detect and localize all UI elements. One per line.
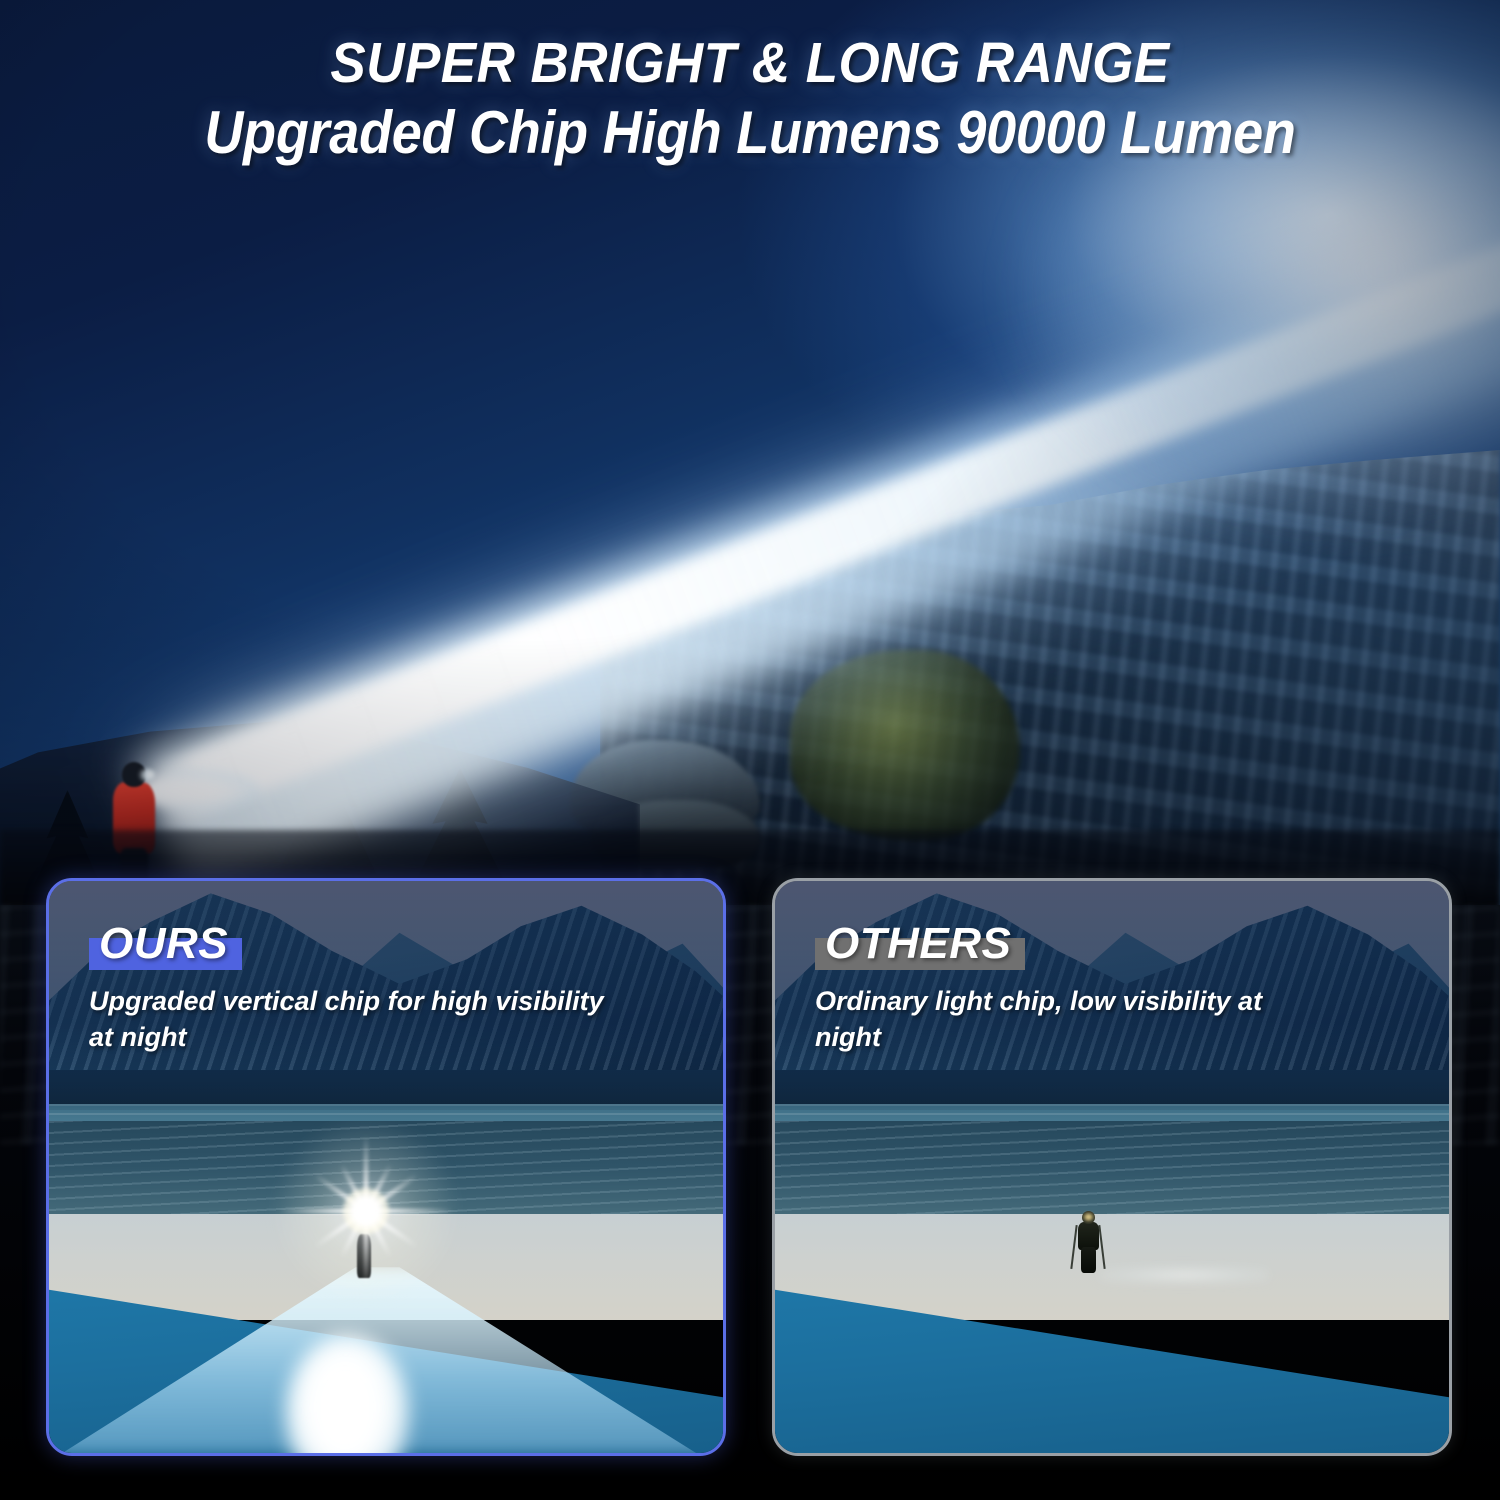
- snowfield-horizon-texture: [775, 1121, 1449, 1221]
- badge-label: OURS: [99, 919, 228, 968]
- starburst-light-icon: [306, 1151, 426, 1271]
- status-badge: OTHERS: [815, 917, 1025, 972]
- comparison-section: OURS Upgraded vertical chip for high vis…: [0, 0, 1500, 1500]
- status-badge: OURS: [89, 917, 242, 972]
- others-snowfield-scene: [775, 1121, 1449, 1453]
- ski-pole: [1099, 1225, 1106, 1269]
- skier-figure: [1071, 1211, 1105, 1273]
- ours-snowfield-scene: [49, 1121, 723, 1453]
- skier-body: [1078, 1222, 1099, 1250]
- dim-light-pool: [1099, 1267, 1269, 1283]
- starburst-core: [343, 1188, 389, 1234]
- others-badge-wrap: OTHERS: [815, 917, 1025, 972]
- headlamp-icon: [1083, 1213, 1094, 1221]
- comparison-card-ours[interactable]: OURS Upgraded vertical chip for high vis…: [46, 878, 726, 1456]
- comparison-card-others[interactable]: OTHERS Ordinary light chip, low visibili…: [772, 878, 1452, 1456]
- badge-label: OTHERS: [825, 919, 1011, 968]
- ours-badge-wrap: OURS: [89, 917, 242, 972]
- skier-legs: [1081, 1247, 1096, 1273]
- ski-pole: [1071, 1225, 1078, 1269]
- others-description: Ordinary light chip, low visibility at n…: [815, 984, 1335, 1055]
- ours-description: Upgraded vertical chip for high visibili…: [89, 984, 609, 1055]
